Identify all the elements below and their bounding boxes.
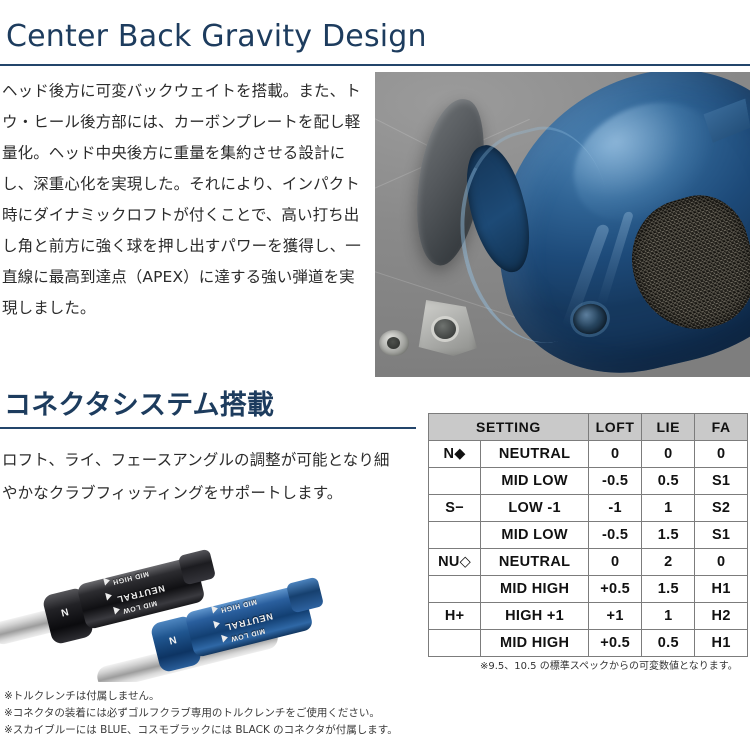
cell-fa: 0 — [695, 549, 748, 576]
sleeve-cap-black — [178, 549, 216, 586]
cell-fa: H1 — [695, 576, 748, 603]
cell-fa: S1 — [695, 468, 748, 495]
cell-lie: 1.5 — [642, 576, 695, 603]
cell-loft: -0.5 — [588, 468, 641, 495]
column-header-fa: FA — [695, 414, 748, 441]
driver-head-render-image — [375, 72, 750, 377]
cell-setting: MID LOW — [481, 468, 589, 495]
heading-divider-2 — [0, 427, 416, 429]
table-row: H+HIGH +1+11H2 — [429, 603, 748, 630]
table-header-row: SETTING LOFT LIE FA — [429, 414, 748, 441]
cell-setting: LOW -1 — [481, 495, 589, 522]
description-paragraph-1: ヘッド後方に可変バックウェイトを搭載。また、トウ・ヒール後方部には、カーボンプレ… — [2, 76, 368, 324]
cell-lie: 0.5 — [642, 630, 695, 657]
cell-code — [429, 522, 481, 549]
column-header-setting: SETTING — [429, 414, 589, 441]
section-title-connector-system: コネクタシステム搭載 — [4, 389, 274, 423]
description-paragraph-2: ロフト、ライ、フェースアングルの調整が可能となり細やかなクラブフィッティングをサ… — [2, 444, 402, 510]
cell-setting: MID HIGH — [481, 630, 589, 657]
cell-loft: -1 — [588, 495, 641, 522]
cell-fa: S1 — [695, 522, 748, 549]
cell-setting: HIGH +1 — [481, 603, 589, 630]
footnote-item: ※スカイブルーには BLUE、コスモブラックには BLACK のコネクタが付属し… — [4, 722, 398, 739]
cell-fa: S2 — [695, 495, 748, 522]
cell-loft: 0 — [588, 549, 641, 576]
cell-setting: MID HIGH — [481, 576, 589, 603]
cell-loft: +1 — [588, 603, 641, 630]
cell-loft: +0.5 — [588, 576, 641, 603]
table-footnote: ※9.5、10.5 の標準スペックからの可変数値となります。 — [480, 658, 738, 675]
column-header-loft: LOFT — [588, 414, 641, 441]
sleeve-cap-blue — [286, 577, 324, 614]
heading-divider-1 — [0, 64, 750, 66]
cell-loft: 0 — [588, 441, 641, 468]
table-row: MID LOW-0.50.5S1 — [429, 468, 748, 495]
footnote-item: ※コネクタの装着には必ずゴルフクラブ専用のトルクレンチをご使用ください。 — [4, 705, 398, 722]
cell-lie: 1 — [642, 495, 695, 522]
connector-sleeves-image: N MID HIGH NEUTRAL MID LOW N MID HIGH NE… — [0, 506, 420, 682]
table-row: MID LOW-0.51.5S1 — [429, 522, 748, 549]
table-row: N◆NEUTRAL000 — [429, 441, 748, 468]
cell-code — [429, 630, 481, 657]
table-body: N◆NEUTRAL000MID LOW-0.50.5S1S−LOW -1-11S… — [429, 441, 748, 657]
column-header-lie: LIE — [642, 414, 695, 441]
cell-code: H+ — [429, 603, 481, 630]
cell-lie: 2 — [642, 549, 695, 576]
loft-lie-fa-spec-table: SETTING LOFT LIE FA N◆NEUTRAL000MID LOW-… — [428, 413, 748, 657]
table-row: S−LOW -1-11S2 — [429, 495, 748, 522]
cell-fa: H1 — [695, 630, 748, 657]
back-weight-hole — [434, 319, 456, 339]
cell-code: S− — [429, 495, 481, 522]
cell-code — [429, 468, 481, 495]
cell-setting: MID LOW — [481, 522, 589, 549]
cell-lie: 1 — [642, 603, 695, 630]
page-title-center-back-gravity-design: Center Back Gravity Design — [6, 18, 427, 56]
cell-fa: 0 — [695, 441, 748, 468]
cell-setting: NEUTRAL — [481, 549, 589, 576]
table-header: SETTING LOFT LIE FA — [429, 414, 748, 441]
cell-code: NU◇ — [429, 549, 481, 576]
cell-fa: H2 — [695, 603, 748, 630]
table-row: NU◇NEUTRAL020 — [429, 549, 748, 576]
weight-screw — [379, 330, 409, 356]
cell-code: N◆ — [429, 441, 481, 468]
table-row: MID HIGH+0.50.5H1 — [429, 630, 748, 657]
cell-code — [429, 576, 481, 603]
cell-lie: 0 — [642, 441, 695, 468]
cell-lie: 0.5 — [642, 468, 695, 495]
footnote-item: ※トルクレンチは付属しません。 — [4, 688, 398, 705]
cell-loft: +0.5 — [588, 630, 641, 657]
cell-lie: 1.5 — [642, 522, 695, 549]
cell-loft: -0.5 — [588, 522, 641, 549]
product-detail-page: Center Back Gravity Design ヘッド後方に可変バックウェ… — [0, 0, 750, 750]
table-row: MID HIGH+0.51.5H1 — [429, 576, 748, 603]
cell-setting: NEUTRAL — [481, 441, 589, 468]
page-footnotes: ※トルクレンチは付属しません。 ※コネクタの装着には必ずゴルフクラブ専用のトルク… — [4, 688, 398, 739]
